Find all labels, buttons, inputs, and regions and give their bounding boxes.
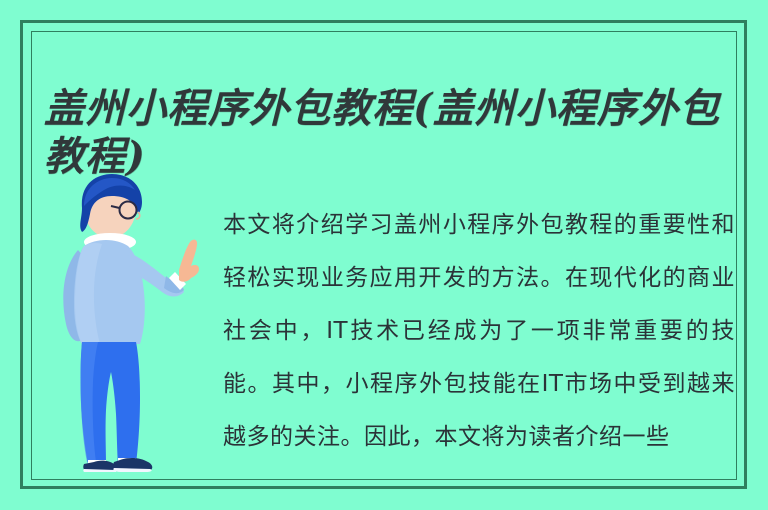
page-title: 盖州小程序外包教程(盖州小程序外包教程) <box>44 85 738 181</box>
article-body: 本文将介绍学习盖州小程序外包教程的重要性和轻松实现业务应用开发的方法。在现代化的… <box>223 199 735 464</box>
person-pointing-illustration <box>48 172 208 472</box>
figure-hand-pointing <box>179 240 199 282</box>
page-root: 盖州小程序外包教程(盖州小程序外包教程) <box>0 0 768 510</box>
